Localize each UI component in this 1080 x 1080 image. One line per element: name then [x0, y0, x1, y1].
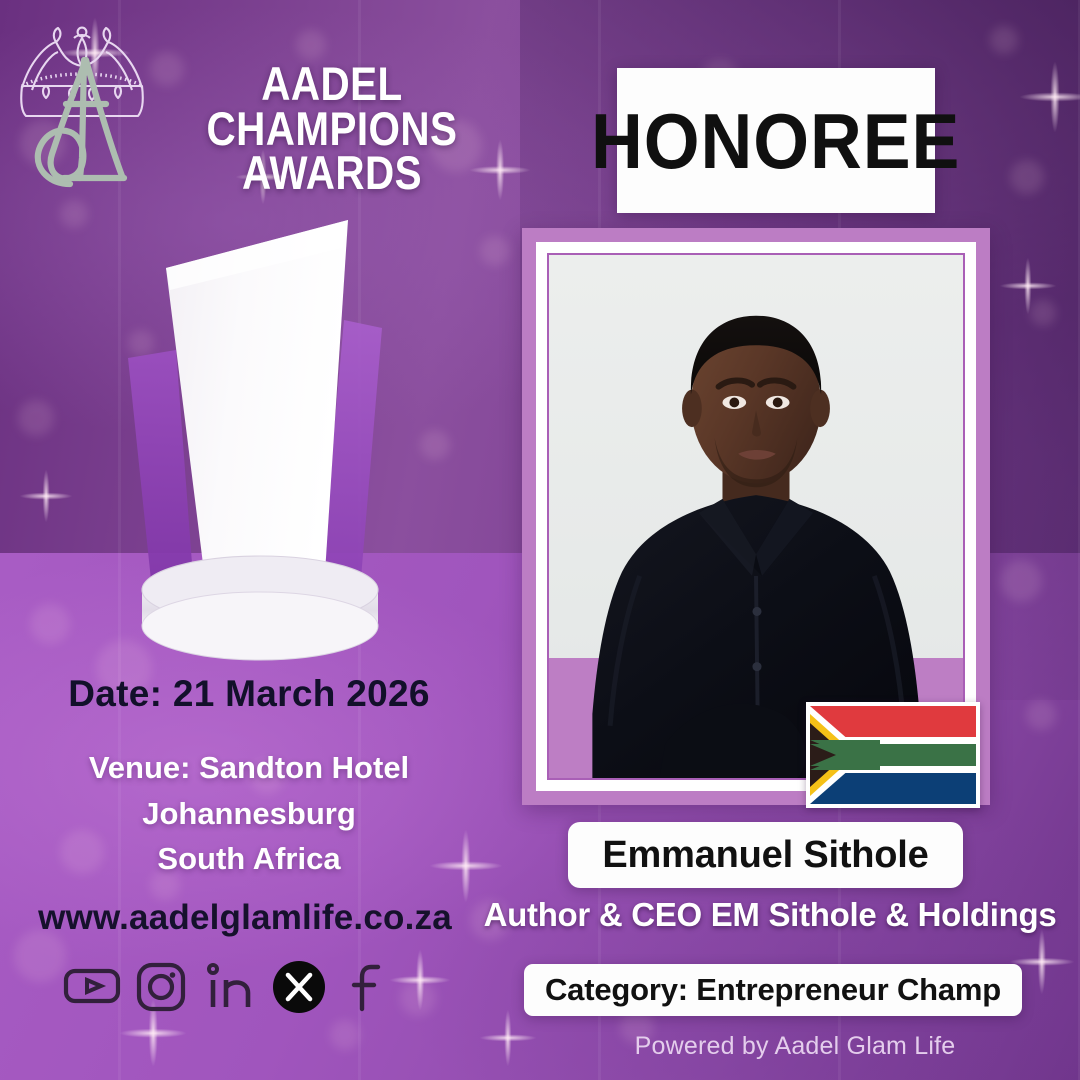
bokeh-dot — [420, 430, 450, 460]
brand-line-1: AADEL CHAMPIONS — [207, 57, 458, 155]
honoree-banner-label: HONOREE — [591, 102, 960, 180]
social-links — [62, 950, 412, 1020]
bokeh-dot — [330, 1020, 360, 1050]
honoree-name: Emmanuel Sithole — [602, 834, 928, 877]
venue-line-1: Venue: Sandton Hotel — [34, 745, 464, 791]
bokeh-dot — [480, 236, 510, 266]
honoree-banner: HONOREE — [617, 68, 935, 213]
page-title: AADEL CHAMPIONS AWARDS — [160, 62, 504, 196]
event-venue: Venue: Sandton Hotel Johannesburg South … — [34, 745, 464, 882]
bokeh-dot — [1010, 160, 1044, 194]
frame-inner-border — [547, 253, 965, 780]
bokeh-dot — [1026, 700, 1056, 730]
honoree-portrait — [549, 255, 963, 778]
sparkle — [480, 1010, 536, 1066]
honoree-role: Author & CEO EM Sithole & Holdings — [470, 896, 1070, 934]
bokeh-dot — [990, 26, 1018, 54]
honoree-category: Category: Entrepreneur Champ — [545, 972, 1001, 1008]
powered-by-footer: Powered by Aadel Glam Life — [560, 1032, 1030, 1061]
sparkle — [20, 470, 72, 522]
event-date: Date: 21 March 2026 — [34, 673, 464, 715]
facebook-icon[interactable] — [338, 955, 398, 1015]
instagram-icon[interactable] — [131, 955, 191, 1015]
honoree-name-badge: Emmanuel Sithole — [568, 822, 963, 888]
award-honoree-poster: AADEL CHAMPIONS AWARDS HONOREE — [0, 0, 1080, 1080]
website-url[interactable]: www.aadelglamlife.co.za — [20, 898, 470, 938]
linkedin-icon[interactable] — [200, 955, 260, 1015]
sparkle — [1000, 258, 1056, 314]
crown-monogram-logo — [6, 8, 158, 198]
sparkle — [1020, 62, 1080, 132]
venue-line-3: South Africa — [34, 836, 464, 882]
bokeh-dot — [18, 400, 54, 436]
south-africa-flag — [806, 702, 980, 808]
x-icon[interactable] — [269, 955, 329, 1015]
venue-line-2: Johannesburg — [34, 791, 464, 837]
trophy-graphic — [110, 190, 410, 665]
bokeh-dot — [60, 200, 88, 228]
bokeh-dot — [296, 30, 326, 60]
bokeh-dot — [1000, 560, 1042, 602]
bokeh-dot — [30, 604, 70, 644]
youtube-icon[interactable] — [62, 955, 122, 1015]
honoree-category-badge: Category: Entrepreneur Champ — [524, 964, 1022, 1016]
